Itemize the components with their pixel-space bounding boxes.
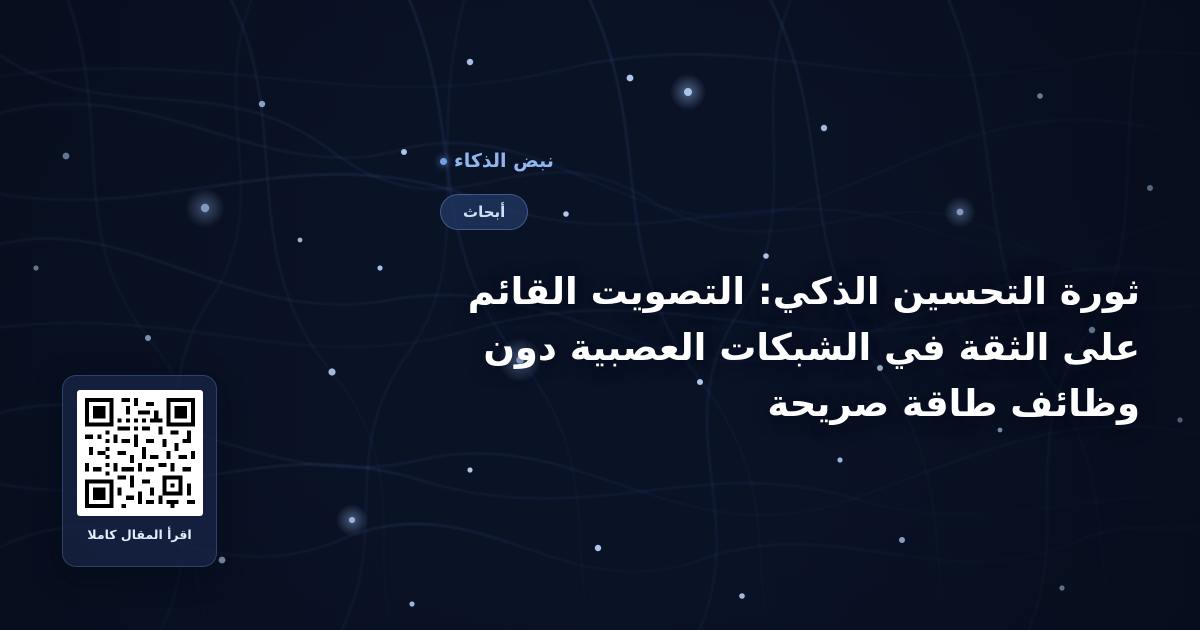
page-title: ثورة التحسين الذكي: التصويت القائم على ا… [440,264,1140,433]
qr-card[interactable]: اقرأ المقال كاملا [62,375,217,567]
card-content: نبض الذكاء أبحاث ثورة التحسين الذكي: الت… [440,0,1200,630]
qr-caption: اقرأ المقال كاملا [87,527,191,542]
brand-dot-icon [440,158,447,165]
category-badge: أبحاث [440,194,528,230]
social-share-card: نبض الذكاء أبحاث ثورة التحسين الذكي: الت… [0,0,1200,630]
brand: نبض الذكاء [440,150,554,172]
brand-name: نبض الذكاء [454,150,554,172]
qr-code[interactable] [77,390,203,516]
